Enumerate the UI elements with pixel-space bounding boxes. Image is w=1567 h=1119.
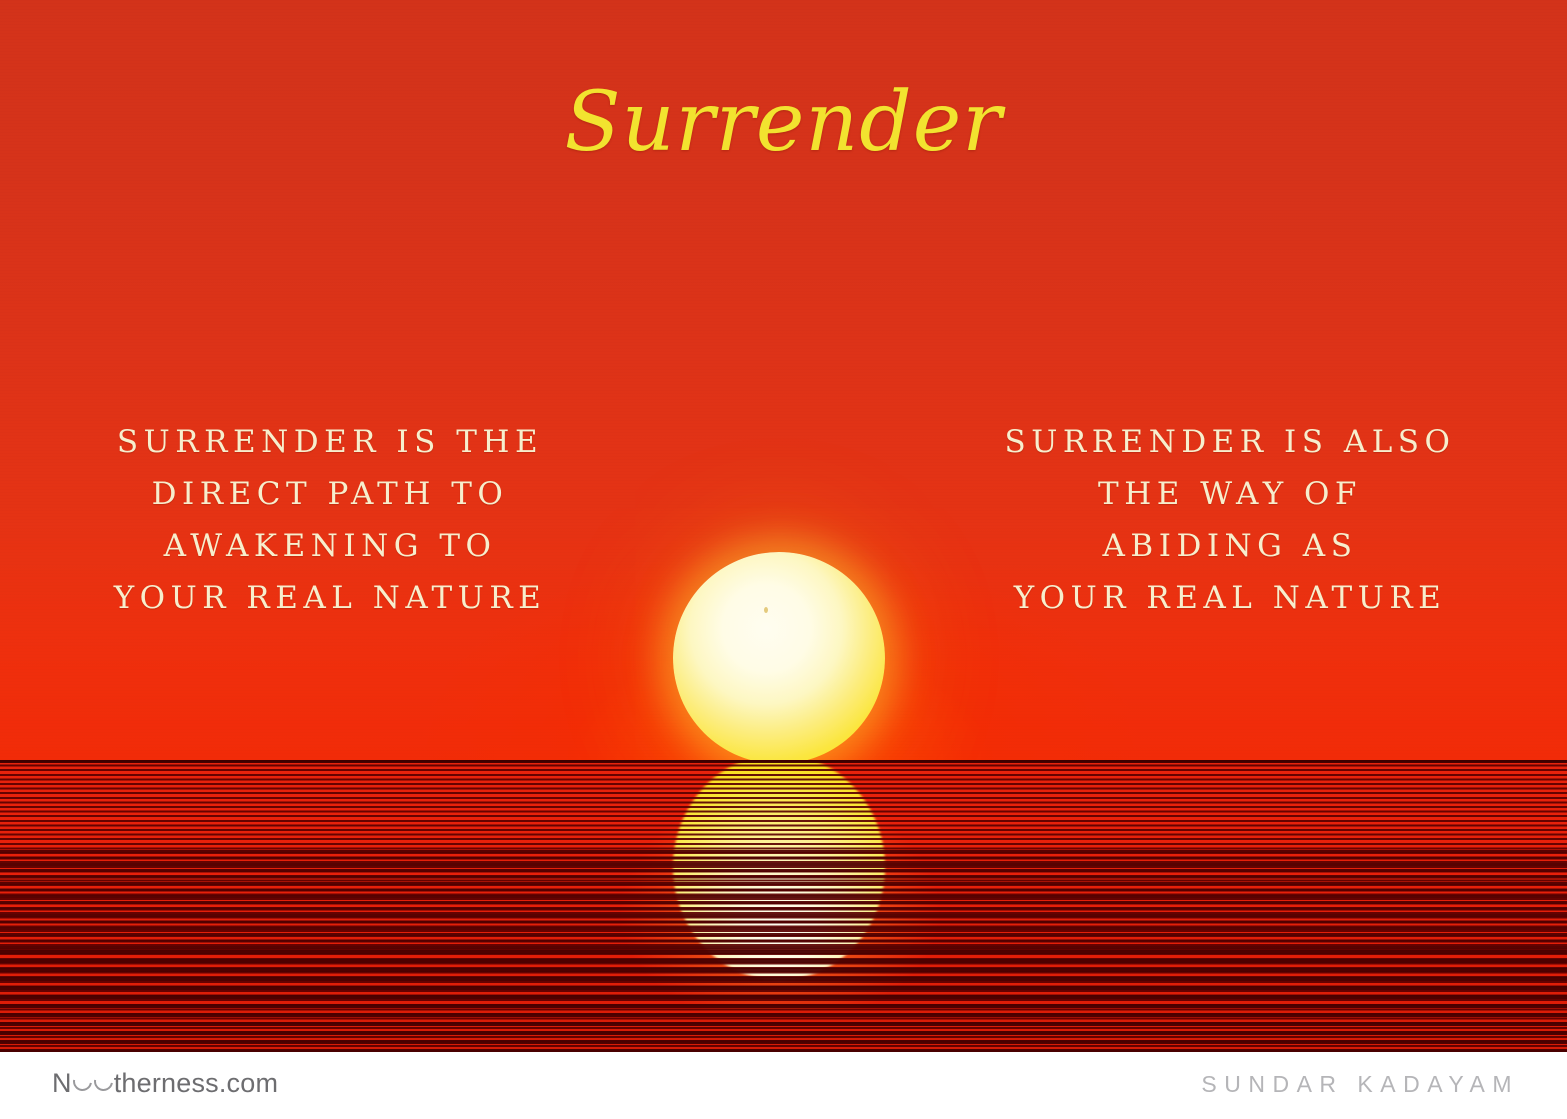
- brand-open-circle-icon-1: [69, 1068, 95, 1094]
- horizon-line: [0, 760, 1567, 763]
- brand-suffix-text: therness.com: [114, 1068, 278, 1099]
- quote-block-right: SURRENDER IS ALSO THE WAY OF ABIDING AS …: [930, 416, 1530, 624]
- quote-block-left: SURRENDER IS THE DIRECT PATH TO AWAKENIN…: [30, 416, 630, 624]
- quote-right-line-1: SURRENDER IS ALSO: [930, 416, 1530, 468]
- page-title: Surrender: [0, 80, 1567, 166]
- brand-logo[interactable]: N therness.com: [52, 1068, 278, 1099]
- poster-canvas: Surrender SURRENDER IS THE DIRECT PATH T…: [0, 0, 1567, 1119]
- quote-right-line-3: ABIDING AS: [930, 520, 1530, 572]
- brand-open-circle-icon-2: [90, 1068, 116, 1094]
- quote-left-line-4: YOUR REAL NATURE: [30, 572, 630, 624]
- quote-left-line-1: SURRENDER IS THE: [30, 416, 630, 468]
- quote-left-line-2: DIRECT PATH TO: [30, 468, 630, 520]
- quote-right-line-2: THE WAY OF: [930, 468, 1530, 520]
- quote-right-line-4: YOUR REAL NATURE: [930, 572, 1530, 624]
- water-surface: [0, 760, 1567, 1052]
- brand-prefix-text: N: [52, 1068, 72, 1099]
- sun-speck: [764, 607, 768, 613]
- author-credit: SUNDAR KADAYAM: [1201, 1071, 1519, 1098]
- footer-bar: N therness.com SUNDAR KADAYAM: [0, 1052, 1567, 1119]
- sun-reflection-icon: [673, 760, 885, 980]
- quote-left-line-3: AWAKENING TO: [30, 520, 630, 572]
- sun-icon: [673, 552, 885, 764]
